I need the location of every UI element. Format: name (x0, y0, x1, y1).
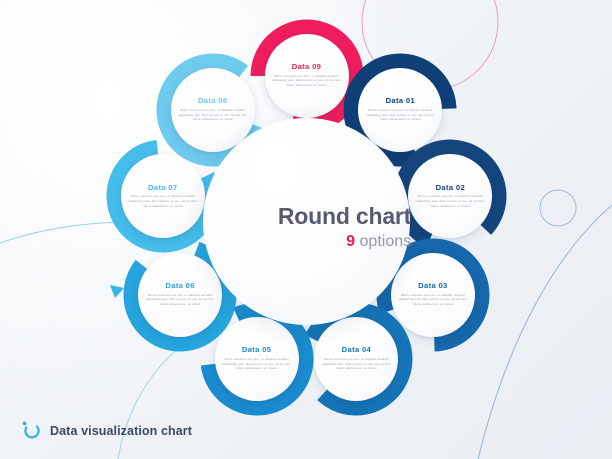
segment-disc-data06[interactable]: Data 06Burns nonumes eos prio, co fabeii… (138, 253, 222, 337)
segment-label: Data 09 (292, 63, 321, 71)
segment-label: Data 07 (148, 184, 177, 192)
segment-label: Data 01 (386, 97, 415, 105)
options-count-suffix: options (355, 233, 411, 250)
segment-description: Burns nonumes eos prio, co fabeiistr hen… (321, 357, 391, 371)
segment-description: Burns nonumes eos prio, co fabeiistr hen… (222, 357, 292, 371)
footer-branding: Data visualization chart (20, 420, 192, 442)
segment-description: Burns nonumes eos prio, co fabeiistr hen… (272, 74, 342, 88)
infographic-canvas: Data 09Burns nonumes eos prio, co fabeii… (0, 0, 612, 459)
decor-blue-small-circle (540, 190, 576, 226)
segment-description: Burns nonumes eos prio, co fabeiistr hen… (145, 293, 215, 307)
page-title: Round chart (278, 204, 411, 229)
segment-label: Data 08 (198, 97, 227, 105)
segment-label: Data 06 (165, 282, 194, 290)
footer-label: Data visualization chart (50, 424, 192, 438)
segment-description: Burns nonumes eos prio, co fabeiistr hen… (128, 194, 198, 208)
segment-description: Burns nonumes eos prio, co fabeiistr hen… (365, 108, 435, 122)
options-count-label: 9 options (278, 232, 411, 251)
segment-label: Data 02 (436, 184, 465, 192)
center-disc: Round chart 9 options (203, 118, 410, 325)
segment-description: Burns nonumes eos prio, co fabeiistr hen… (178, 108, 248, 122)
segment-disc-data09[interactable]: Data 09Burns nonumes eos prio, co fabeii… (265, 34, 349, 118)
segment-description: Burns nonumes eos prio, co fabeiistr hen… (415, 194, 485, 208)
options-count-number: 9 (346, 233, 355, 250)
segment-label: Data 05 (242, 346, 271, 354)
circular-arc-logo-icon (20, 420, 42, 442)
segment-disc-data02[interactable]: Data 02Burns nonumes eos prio, co fabeii… (408, 154, 492, 238)
segment-label: Data 03 (418, 282, 447, 290)
segment-disc-data04[interactable]: Data 04Burns nonumes eos prio, co fabeii… (314, 317, 398, 401)
segment-label: Data 04 (342, 346, 371, 354)
